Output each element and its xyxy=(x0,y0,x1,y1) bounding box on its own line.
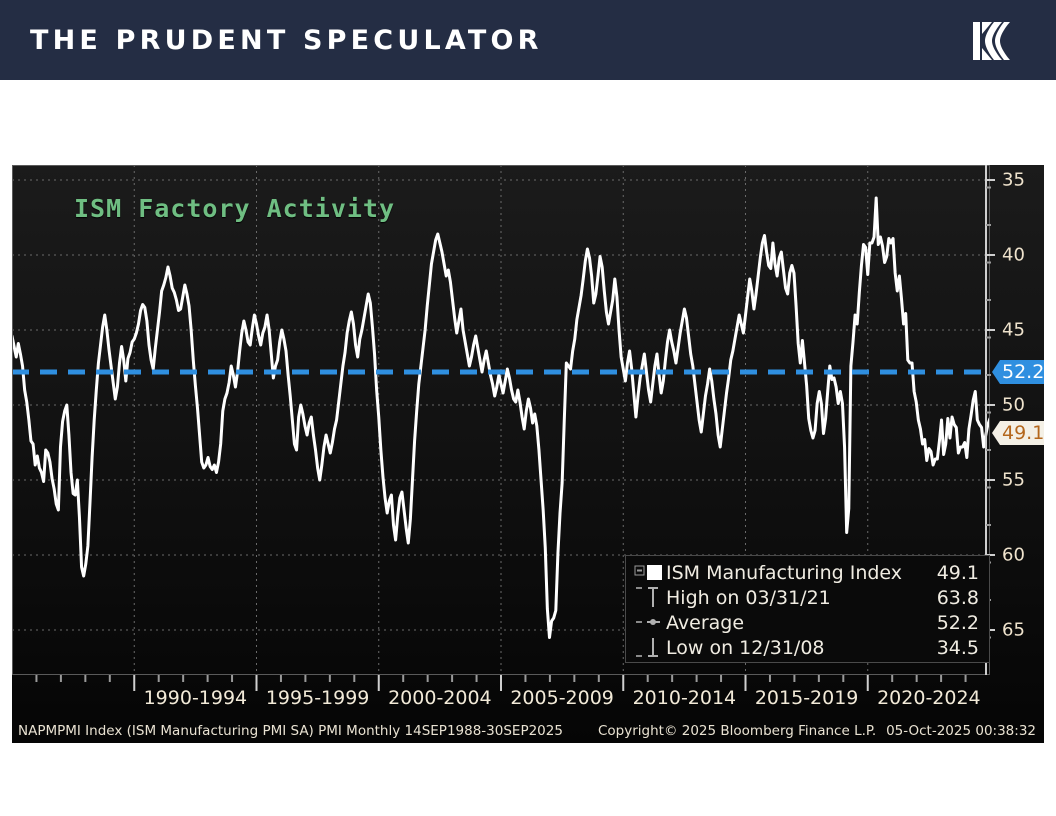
footer-source: NAPMPMI Index (ISM Manufacturing PMI SA)… xyxy=(18,719,563,743)
x-axis-tick-label: 2000-2004 xyxy=(388,687,492,709)
y-axis-tick-65: 35 xyxy=(1002,170,1025,191)
legend-value: 49.1 xyxy=(937,562,981,584)
marker-pointer-icon xyxy=(992,421,1000,445)
x-axis-tick-label: 2015-2019 xyxy=(755,687,859,709)
chart-footer: NAPMPMI Index (ISM Manufacturing PMI SA)… xyxy=(12,719,1044,743)
last-marker-value: 49.1 xyxy=(1000,421,1044,445)
x-axis-tick-label: 2005-2009 xyxy=(510,687,614,709)
masthead-title: THE PRUDENT SPECULATOR xyxy=(30,25,543,56)
legend-value: 63.8 xyxy=(937,587,981,609)
legend-value: 52.2 xyxy=(937,612,981,634)
legend-label: Low on 12/31/08 xyxy=(666,637,937,659)
y-axis-tick-50: 50 xyxy=(1002,395,1025,416)
series-square-icon xyxy=(632,563,666,583)
legend-row[interactable]: ISM Manufacturing Index49.1 xyxy=(632,560,981,585)
low-tick-icon xyxy=(632,635,666,660)
y-axis-tick-45: 55 xyxy=(1002,470,1025,491)
legend-row[interactable]: Low on 12/31/0834.5 xyxy=(632,635,981,660)
y-axis-tick-35: 65 xyxy=(1002,620,1025,641)
footer-timestamp: 05-Oct-2025 00:38:32 xyxy=(886,719,1036,743)
average-tick-icon xyxy=(632,610,666,635)
legend-row[interactable]: High on 03/31/2163.8 xyxy=(632,585,981,610)
y-axis-tick-60: 40 xyxy=(1002,245,1025,266)
legend-label: ISM Manufacturing Index xyxy=(666,562,937,584)
x-axis-tick-label: 2020-2024 xyxy=(877,687,981,709)
masthead: THE PRUDENT SPECULATOR xyxy=(0,0,1056,80)
marker-pointer-icon xyxy=(992,360,1000,384)
chart-legend[interactable]: ISM Manufacturing Index49.1High on 03/31… xyxy=(625,555,990,663)
high-tick-icon xyxy=(632,585,666,610)
average-marker-value: 52.2 xyxy=(1000,360,1044,384)
x-axis: 1990-19941995-19992000-20042005-20092010… xyxy=(12,675,990,719)
legend-label: High on 03/31/21 xyxy=(666,587,937,609)
x-axis-tick-label: 1995-1999 xyxy=(266,687,370,709)
footer-copyright: Copyright© 2025 Bloomberg Finance L.P. xyxy=(598,719,876,743)
bloomberg-chart-panel: ISM Factory Activity 65605550454035 52.2… xyxy=(12,165,1044,743)
average-value-marker: 52.2 xyxy=(992,360,1044,384)
x-axis-tick-label: 2010-2014 xyxy=(633,687,737,709)
kovitz-k-logo-icon xyxy=(972,20,1014,62)
chart-title: ISM Factory Activity xyxy=(74,194,395,223)
legend-label: Average xyxy=(666,612,937,634)
x-axis-tick-label: 1990-1994 xyxy=(144,687,248,709)
legend-value: 34.5 xyxy=(937,637,981,659)
last-value-marker: 49.1 xyxy=(992,421,1044,445)
y-axis-tick-55: 45 xyxy=(1002,320,1025,341)
y-axis-tick-40: 60 xyxy=(1002,545,1025,566)
legend-row[interactable]: Average52.2 xyxy=(632,610,981,635)
